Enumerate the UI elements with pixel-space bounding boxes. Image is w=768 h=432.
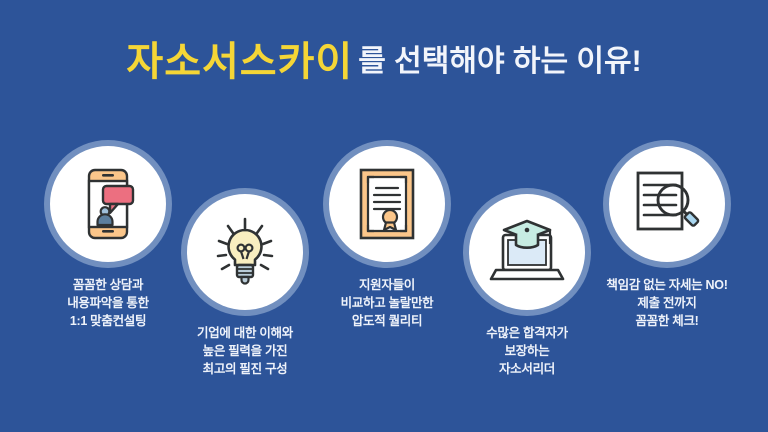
caption-line: 제출 전까지 — [592, 294, 742, 312]
caption-line: 꼼꼼한 체크! — [592, 312, 742, 330]
caption-line: 내용파악을 통한 — [33, 294, 183, 312]
lightbulb-idea-icon — [209, 215, 281, 289]
feature-caption: 꼼꼼한 상담과 내용파악을 통한 1:1 맞춤컨설팅 — [33, 276, 183, 330]
caption-line: 압도적 퀄리티 — [312, 312, 462, 330]
feature-icon-circle — [609, 146, 725, 262]
feature-item-consulting: 꼼꼼한 상담과 내용파악을 통한 1:1 맞춤컨설팅 — [33, 146, 183, 330]
promo-slide: 자소서스카이를 선택해야 하는 이유! 꼼꼼한 상담과 내용파악을 통한 — [0, 0, 768, 432]
document-magnifier-check-icon — [630, 167, 704, 241]
caption-line: 보장하는 — [452, 342, 602, 360]
caption-line: 수많은 합격자가 — [452, 324, 602, 342]
caption-line: 지원자들이 — [312, 276, 462, 294]
feature-caption: 기업에 대한 이해와 높은 필력을 가진 최고의 필진 구성 — [170, 324, 320, 378]
page-title: 자소서스카이를 선택해야 하는 이유! — [0, 42, 768, 82]
caption-line: 책임감 없는 자세는 NO! — [592, 276, 742, 294]
caption-line: 1:1 맞춤컨설팅 — [33, 312, 183, 330]
feature-item-quality: 지원자들이 비교하고 놀랄만한 압도적 퀄리티 — [312, 146, 462, 330]
caption-line: 자소서리더 — [452, 360, 602, 378]
smartphone-chat-consult-icon — [77, 167, 139, 241]
feature-caption: 지원자들이 비교하고 놀랄만한 압도적 퀄리티 — [312, 276, 462, 330]
feature-icon-circle — [50, 146, 166, 262]
brand-name: 자소서스카이 — [126, 40, 353, 84]
title-suffix: 를 선택해야 하는 이유! — [358, 45, 641, 78]
feature-caption: 책임감 없는 자세는 NO! 제출 전까지 꼼꼼한 체크! — [592, 276, 742, 330]
feature-caption: 수많은 합격자가 보장하는 자소서리더 — [452, 324, 602, 378]
feature-item-writers: 기업에 대한 이해와 높은 필력을 가진 최고의 필진 구성 — [170, 194, 320, 378]
laptop-graduation-cap-icon — [488, 217, 566, 287]
feature-icon-circle — [329, 146, 445, 262]
feature-icon-circle — [187, 194, 303, 310]
feature-item-leader: 수많은 합격자가 보장하는 자소서리더 — [452, 194, 602, 378]
feature-icon-circle — [469, 194, 585, 310]
certificate-award-icon — [357, 166, 417, 242]
caption-line: 최고의 필진 구성 — [170, 360, 320, 378]
caption-line: 기업에 대한 이해와 — [170, 324, 320, 342]
caption-line: 높은 필력을 가진 — [170, 342, 320, 360]
caption-line: 꼼꼼한 상담과 — [33, 276, 183, 294]
caption-line: 비교하고 놀랄만한 — [312, 294, 462, 312]
feature-item-check: 책임감 없는 자세는 NO! 제출 전까지 꼼꼼한 체크! — [592, 146, 742, 330]
